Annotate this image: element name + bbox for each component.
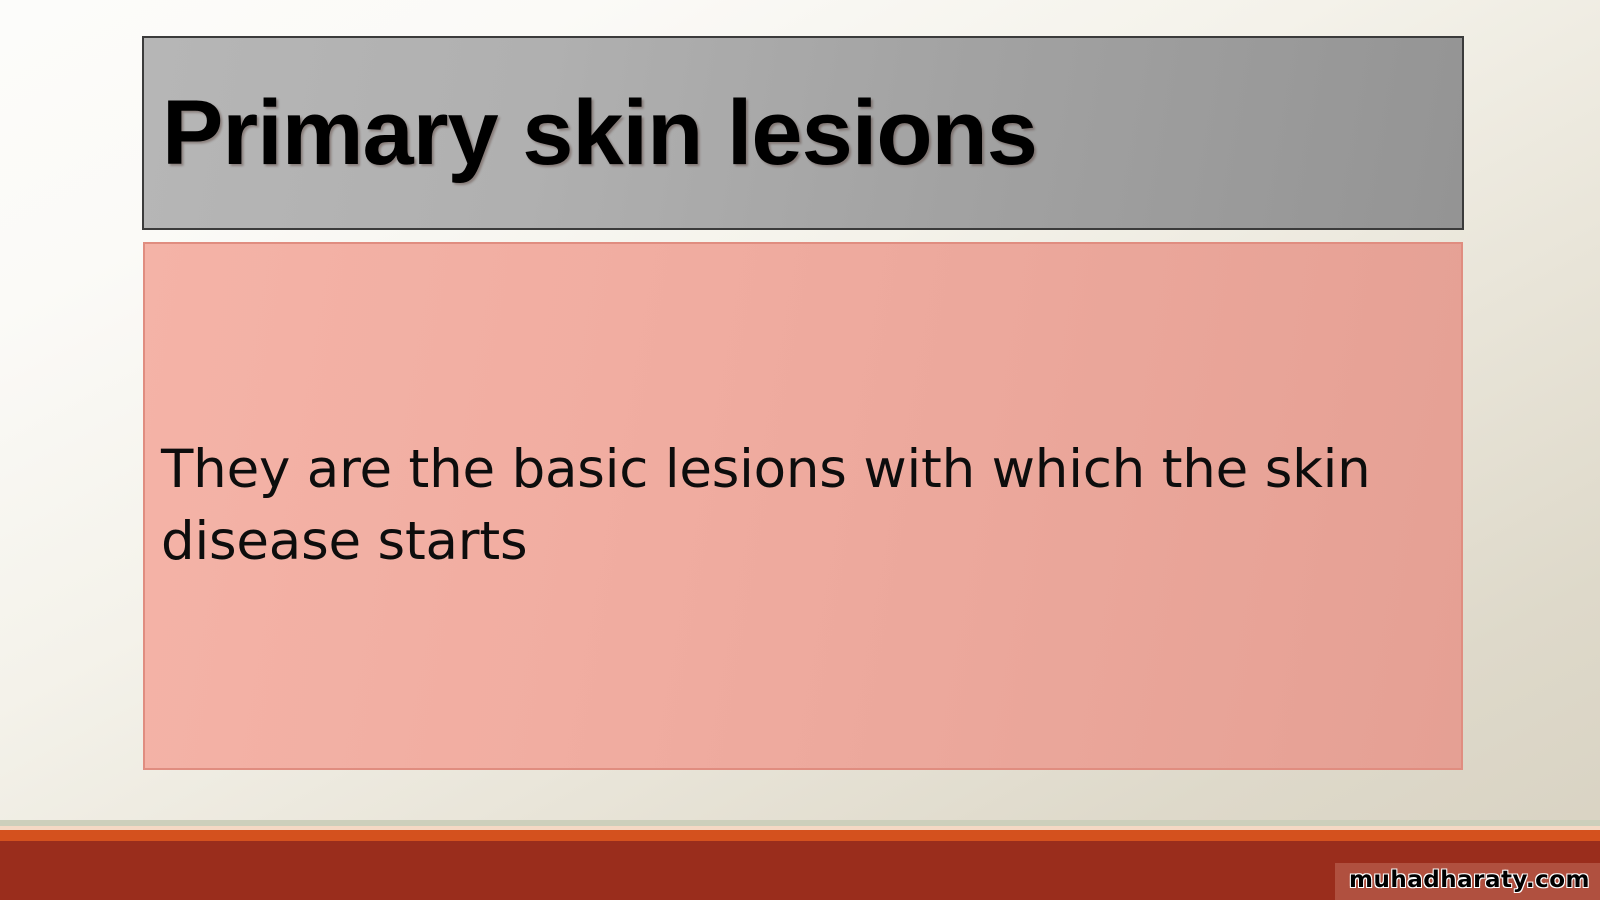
watermark-label: muhadharaty.com: [1335, 863, 1600, 900]
slide-body-placeholder[interactable]: They are the basic lesions with which th…: [143, 242, 1463, 770]
slide-body-text: They are the basic lesions with which th…: [145, 434, 1461, 577]
presentation-slide: Primary skin lesions They are the basic …: [0, 0, 1600, 900]
footer-accent-stripe: [0, 830, 1600, 841]
page-title: Primary skin lesions: [144, 87, 1037, 179]
slide-title-placeholder[interactable]: Primary skin lesions: [142, 36, 1464, 230]
